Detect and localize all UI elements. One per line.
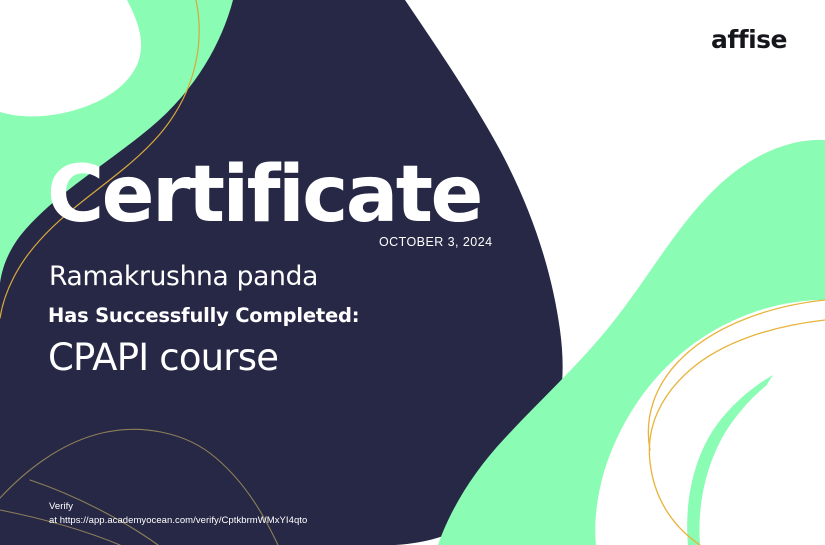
verify-url[interactable]: at https://app.academyocean.com/verify/C… bbox=[49, 514, 307, 528]
certificate-content: affise Certificate OCTOBER 3, 2024 Ramak… bbox=[0, 0, 825, 545]
verify-label: Verify bbox=[49, 500, 307, 514]
recipient-name: Ramakrushna panda bbox=[49, 261, 318, 293]
verification-block: Verify at https://app.academyocean.com/v… bbox=[49, 500, 307, 528]
issue-date: OCTOBER 3, 2024 bbox=[379, 236, 493, 249]
affise-logo: affise bbox=[711, 27, 787, 52]
certificate-canvas: affise Certificate OCTOBER 3, 2024 Ramak… bbox=[0, 0, 825, 545]
course-name: CPAPI course bbox=[48, 336, 278, 380]
page-title: Certificate bbox=[47, 156, 481, 234]
completion-label: Has Successfully Completed: bbox=[48, 304, 359, 327]
